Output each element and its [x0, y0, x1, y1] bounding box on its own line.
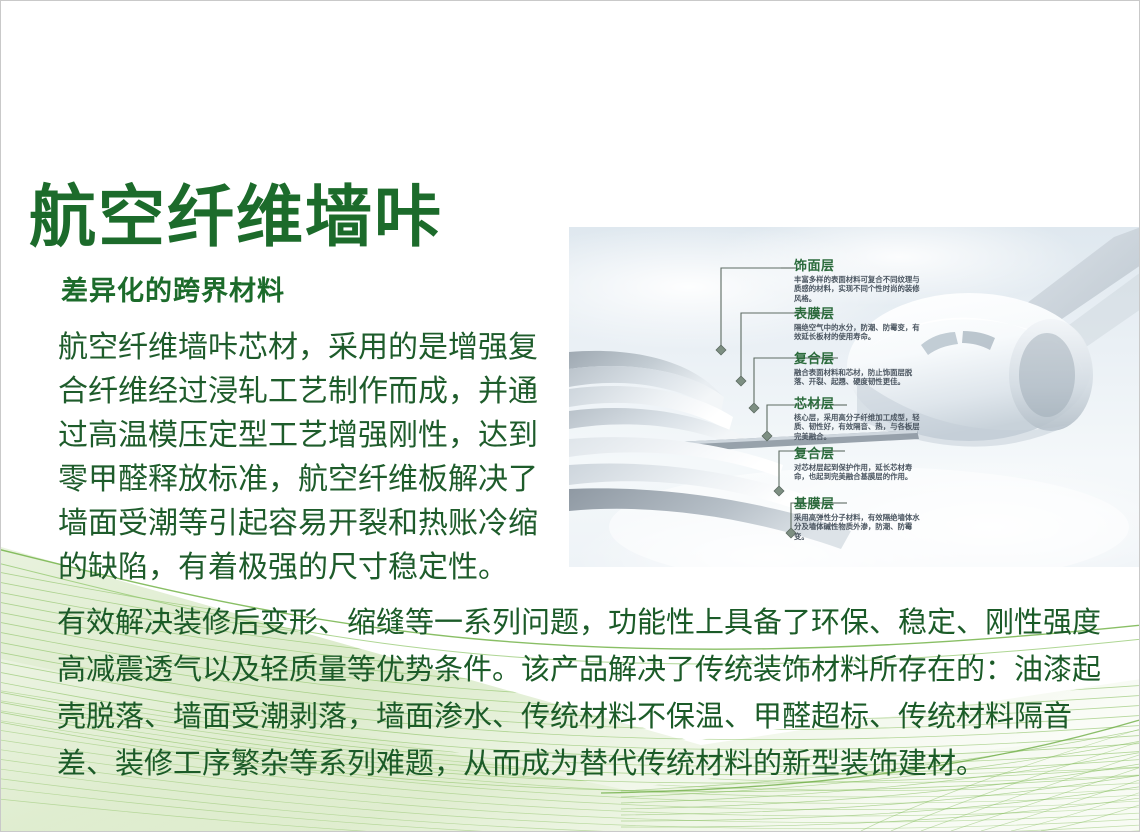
benefits-paragraph: 有效解决装修后变形、缩缝等一系列问题，功能性上具备了环保、稳定、刚性强度高减震透… — [57, 599, 1103, 787]
poster-canvas: 饰面层 丰富多样的表面材料可复合不同纹理与质感的材料，实现不同个性时尚的装修风格… — [0, 0, 1140, 832]
intro-paragraph: 航空纤维墙咔芯材，采用的是增强复合纤维经过浸轧工艺制作而成，并通过高温模压定型工… — [58, 326, 558, 590]
page-title: 航空纤维墙咔 — [29, 184, 443, 251]
page-subtitle: 差异化的跨界材料 — [61, 278, 285, 305]
product-layer-diagram-image — [569, 227, 1140, 567]
leader-lines — [569, 227, 1140, 567]
